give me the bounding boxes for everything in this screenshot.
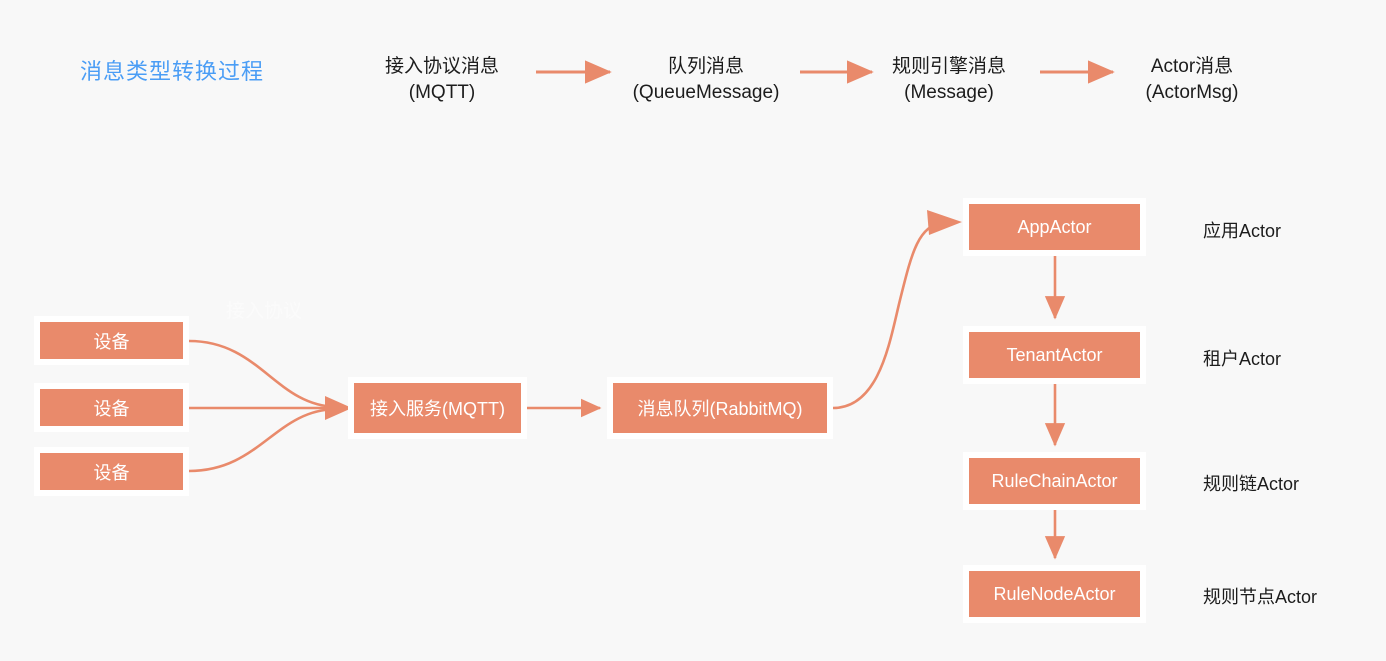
message-queue-node[interactable]: 消息队列(RabbitMQ): [607, 377, 833, 439]
device-node-0-label: 设备: [40, 322, 183, 359]
device-0-to-access-curve: [189, 341, 336, 407]
conversion-step-0-line1: 接入协议消息: [385, 56, 499, 77]
conversion-step-2-line1: 规则引擎消息: [892, 56, 1006, 77]
actor-node-appactor[interactable]: AppActor: [963, 198, 1146, 256]
device-node-1-label: 设备: [40, 389, 183, 426]
appactor-inbound-arrowhead: [927, 210, 962, 235]
conversion-step-1: 队列消息 (QueueMessage): [633, 54, 780, 106]
actor-node-appactor-label: AppActor: [969, 204, 1140, 250]
device-node-1[interactable]: 设备: [34, 383, 189, 432]
conversion-step-3-line2: (ActorMsg): [1146, 80, 1239, 106]
conversion-step-1-line1: 队列消息: [668, 56, 744, 77]
actor-annotation-rulechainactor: 规则链Actor: [1203, 470, 1299, 496]
access-service-node[interactable]: 接入服务(MQTT): [348, 377, 527, 439]
conversion-step-2: 规则引擎消息 (Message): [892, 54, 1006, 106]
diagram-canvas: 消息类型转换过程 接入协议消息 (MQTT) 队列消息 (QueueMessag…: [0, 0, 1386, 661]
actor-annotation-appactor: 应用Actor: [1203, 217, 1281, 243]
conversion-step-1-line2: (QueueMessage): [633, 80, 780, 106]
device-2-to-access-curve: [189, 409, 336, 471]
actor-node-rulechainactor-label: RuleChainActor: [969, 458, 1140, 504]
conversion-step-3-line1: Actor消息: [1151, 56, 1233, 77]
actor-node-rulechainactor[interactable]: RuleChainActor: [963, 452, 1146, 510]
actor-node-rulenodeactor-label: RuleNodeActor: [969, 571, 1140, 617]
actor-annotation-tenantactor: 租户Actor: [1203, 345, 1281, 371]
page-title: 消息类型转换过程: [80, 54, 264, 86]
device-node-0[interactable]: 设备: [34, 316, 189, 365]
message-queue-node-label: 消息队列(RabbitMQ): [613, 383, 827, 433]
actor-node-rulenodeactor[interactable]: RuleNodeActor: [963, 565, 1146, 623]
access-service-node-label: 接入服务(MQTT): [354, 383, 521, 433]
conversion-step-0: 接入协议消息 (MQTT): [385, 54, 499, 106]
actor-annotation-rulenodeactor: 规则节点Actor: [1203, 583, 1317, 609]
conversion-step-3: Actor消息 (ActorMsg): [1146, 54, 1239, 106]
actor-node-tenantactor[interactable]: TenantActor: [963, 326, 1146, 384]
device-node-2[interactable]: 设备: [34, 447, 189, 496]
actor-node-tenantactor-label: TenantActor: [969, 332, 1140, 378]
watermark-label: 接入协议: [226, 296, 302, 323]
conversion-step-0-line2: (MQTT): [385, 80, 499, 106]
conversion-step-2-line2: (Message): [892, 80, 1006, 106]
device-node-2-label: 设备: [40, 453, 183, 490]
queue-to-appactor-curve: [833, 222, 944, 408]
